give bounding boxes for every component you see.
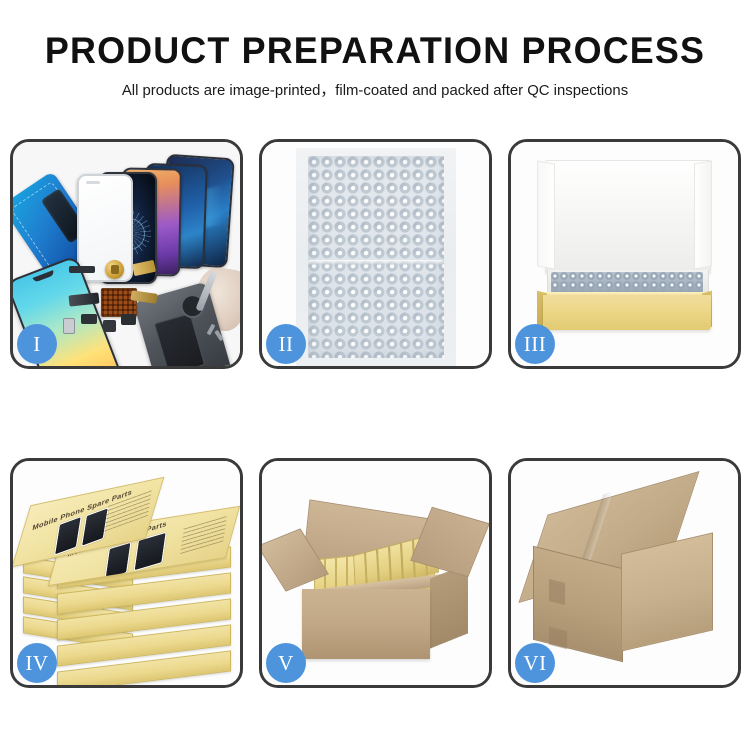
process-step-panel-2[interactable]: II (259, 139, 492, 369)
step-badge-4: IV (17, 643, 57, 683)
box-front-graphic (543, 295, 711, 330)
small-part-graphic-2 (103, 320, 116, 332)
step-badge-6: VI (515, 643, 555, 683)
carton-front-face (302, 589, 430, 659)
page-header: PRODUCT PREPARATION PROCESS All products… (0, 0, 750, 100)
step-badge-2: II (266, 324, 306, 364)
process-step-panel-5[interactable]: V (259, 458, 492, 688)
box-lid-flap-left (537, 160, 555, 269)
step-badge-3: III (515, 324, 555, 364)
step-badge-1: I (17, 324, 57, 364)
process-step-panel-3[interactable]: III (508, 139, 741, 369)
box-lid-graphic (545, 160, 711, 274)
small-part-graphic-3 (121, 314, 136, 325)
page-title: PRODUCT PREPARATION PROCESS (11, 32, 739, 71)
process-step-grid: I II III (10, 139, 742, 669)
step-badge-5: V (266, 643, 306, 683)
process-step-panel-6[interactable]: VI (508, 458, 741, 688)
small-part-graphic-1 (81, 314, 97, 324)
box-art-text-lines (180, 515, 227, 554)
speaker-part-graphic (105, 260, 124, 279)
wrap-seam-graphic (308, 260, 444, 265)
battery-graphic (154, 313, 205, 366)
small-part-graphic-4 (63, 318, 75, 334)
bubble-wrap-graphic (308, 156, 444, 358)
process-step-panel-4[interactable]: Mobile Phone Spare Parts Mobile Phone Sp… (10, 458, 243, 688)
process-step-panel-1[interactable]: I (10, 139, 243, 369)
box-stack-graphic: Mobile Phone Spare Parts Mobile Phone Sp… (21, 487, 239, 677)
box-lid-flap-right (694, 160, 712, 269)
page-subtitle: All products are image-printed，film-coat… (8, 82, 743, 100)
part-bar-graphic (69, 266, 95, 273)
carton-tape-mark-1 (549, 579, 565, 605)
